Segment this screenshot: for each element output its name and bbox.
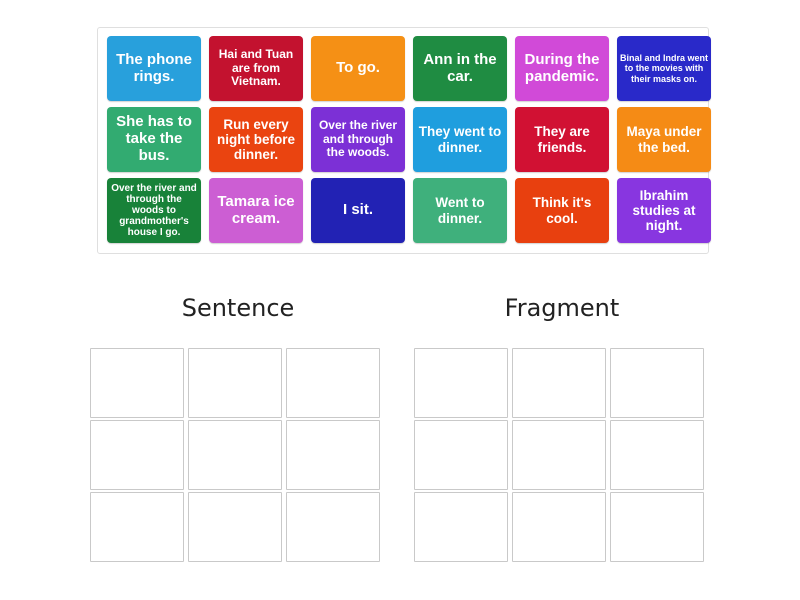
draggable-tile[interactable]: I sit. (311, 178, 405, 243)
category-headings: Sentence Fragment (0, 294, 800, 328)
draggable-tile[interactable]: Over the river and through the woods to … (107, 178, 201, 243)
tile-label: Over the river and through the woods to … (110, 183, 198, 239)
tile-label: Ann in the car. (416, 52, 504, 86)
tile-label: She has to take the bus. (110, 114, 198, 164)
drop-slot[interactable] (610, 348, 704, 418)
drop-slot-row (88, 348, 388, 418)
draggable-tile[interactable]: Ann in the car. (413, 36, 507, 101)
tile-row: The phone rings. Hai and Tuan are from V… (103, 34, 703, 105)
drop-slot-row (88, 492, 388, 562)
drop-slot-row (412, 492, 712, 562)
drop-slot[interactable] (286, 420, 380, 490)
tile-label: Hai and Tuan are from Vietnam. (212, 48, 300, 88)
draggable-tile[interactable]: To go. (311, 36, 405, 101)
draggable-tile[interactable]: Tamara ice cream. (209, 178, 303, 243)
tile-label: I sit. (314, 202, 402, 219)
drop-slot[interactable] (90, 420, 184, 490)
tile-label: To go. (314, 60, 402, 77)
drop-slot[interactable] (512, 492, 606, 562)
group-sort-activity: The phone rings. Hai and Tuan are from V… (0, 0, 800, 600)
drop-slot[interactable] (286, 348, 380, 418)
tile-label: They are friends. (518, 124, 606, 154)
tile-label: Binal and Indra went to the movies with … (620, 53, 708, 83)
tile-label: Maya under the bed. (620, 124, 708, 154)
tile-label: Tamara ice cream. (212, 194, 300, 228)
drop-slot[interactable] (188, 348, 282, 418)
drop-slot-row (412, 348, 712, 418)
tile-label: Went to dinner. (416, 195, 504, 225)
tile-tray: The phone rings. Hai and Tuan are from V… (97, 27, 709, 254)
draggable-tile[interactable]: Went to dinner. (413, 178, 507, 243)
drop-slot-row (412, 420, 712, 490)
draggable-tile[interactable]: Maya under the bed. (617, 107, 711, 172)
tile-label: Think it's cool. (518, 195, 606, 225)
drop-slot[interactable] (188, 420, 282, 490)
tile-label: Run every night before dinner. (212, 117, 300, 162)
draggable-tile[interactable]: Think it's cool. (515, 178, 609, 243)
drop-zones (0, 348, 800, 574)
tile-label: They went to dinner. (416, 124, 504, 154)
draggable-tile[interactable]: Over the river and through the woods. (311, 107, 405, 172)
drop-slot[interactable] (90, 348, 184, 418)
category-title-sentence: Sentence (88, 294, 388, 322)
tile-label: The phone rings. (110, 52, 198, 86)
drop-slot[interactable] (414, 420, 508, 490)
tile-row: Over the river and through the woods to … (103, 176, 703, 247)
tile-label: During the pandemic. (518, 52, 606, 86)
drop-zone-sentence[interactable] (88, 348, 388, 564)
drop-slot[interactable] (188, 492, 282, 562)
draggable-tile[interactable]: Binal and Indra went to the movies with … (617, 36, 711, 101)
drop-slot[interactable] (610, 420, 704, 490)
draggable-tile[interactable]: Run every night before dinner. (209, 107, 303, 172)
tile-label: Over the river and through the woods. (314, 119, 402, 159)
drop-slot-row (88, 420, 388, 490)
draggable-tile[interactable]: They went to dinner. (413, 107, 507, 172)
draggable-tile[interactable]: Ibrahim studies at night. (617, 178, 711, 243)
tile-row: She has to take the bus. Run every night… (103, 105, 703, 176)
drop-slot[interactable] (610, 492, 704, 562)
drop-zone-fragment[interactable] (412, 348, 712, 564)
drop-slot[interactable] (90, 492, 184, 562)
draggable-tile[interactable]: The phone rings. (107, 36, 201, 101)
tile-label: Ibrahim studies at night. (620, 188, 708, 233)
draggable-tile[interactable]: They are friends. (515, 107, 609, 172)
draggable-tile[interactable]: She has to take the bus. (107, 107, 201, 172)
draggable-tile[interactable]: During the pandemic. (515, 36, 609, 101)
draggable-tile[interactable]: Hai and Tuan are from Vietnam. (209, 36, 303, 101)
drop-slot[interactable] (512, 420, 606, 490)
drop-slot[interactable] (414, 492, 508, 562)
drop-slot[interactable] (286, 492, 380, 562)
category-title-fragment: Fragment (412, 294, 712, 322)
drop-slot[interactable] (512, 348, 606, 418)
drop-slot[interactable] (414, 348, 508, 418)
